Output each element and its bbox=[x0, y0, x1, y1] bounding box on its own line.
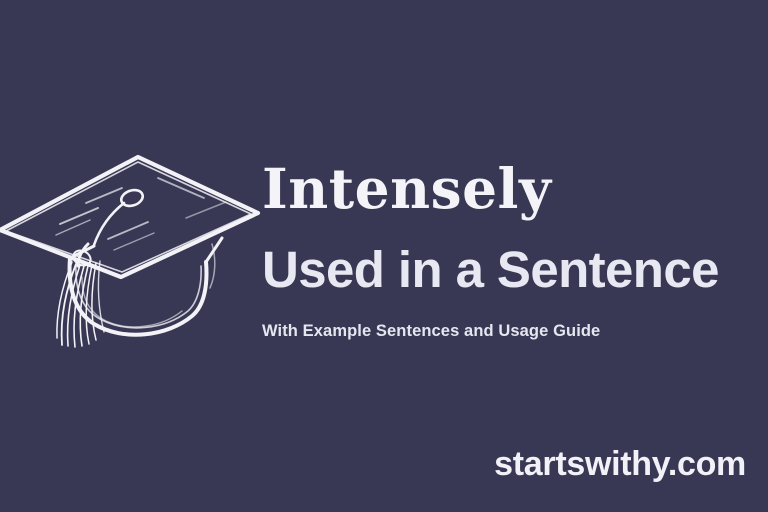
headline: Used in a Sentence bbox=[262, 242, 758, 298]
site-brand: startswithy.com bbox=[494, 444, 746, 484]
promo-card: Intensely Used in a Sentence With Exampl… bbox=[0, 0, 768, 512]
hero-text-block: Intensely Used in a Sentence With Exampl… bbox=[262, 158, 758, 342]
graduation-cap-icon bbox=[0, 140, 270, 370]
subtitle: With Example Sentences and Usage Guide bbox=[262, 320, 758, 342]
page-title-word: Intensely bbox=[262, 158, 758, 220]
